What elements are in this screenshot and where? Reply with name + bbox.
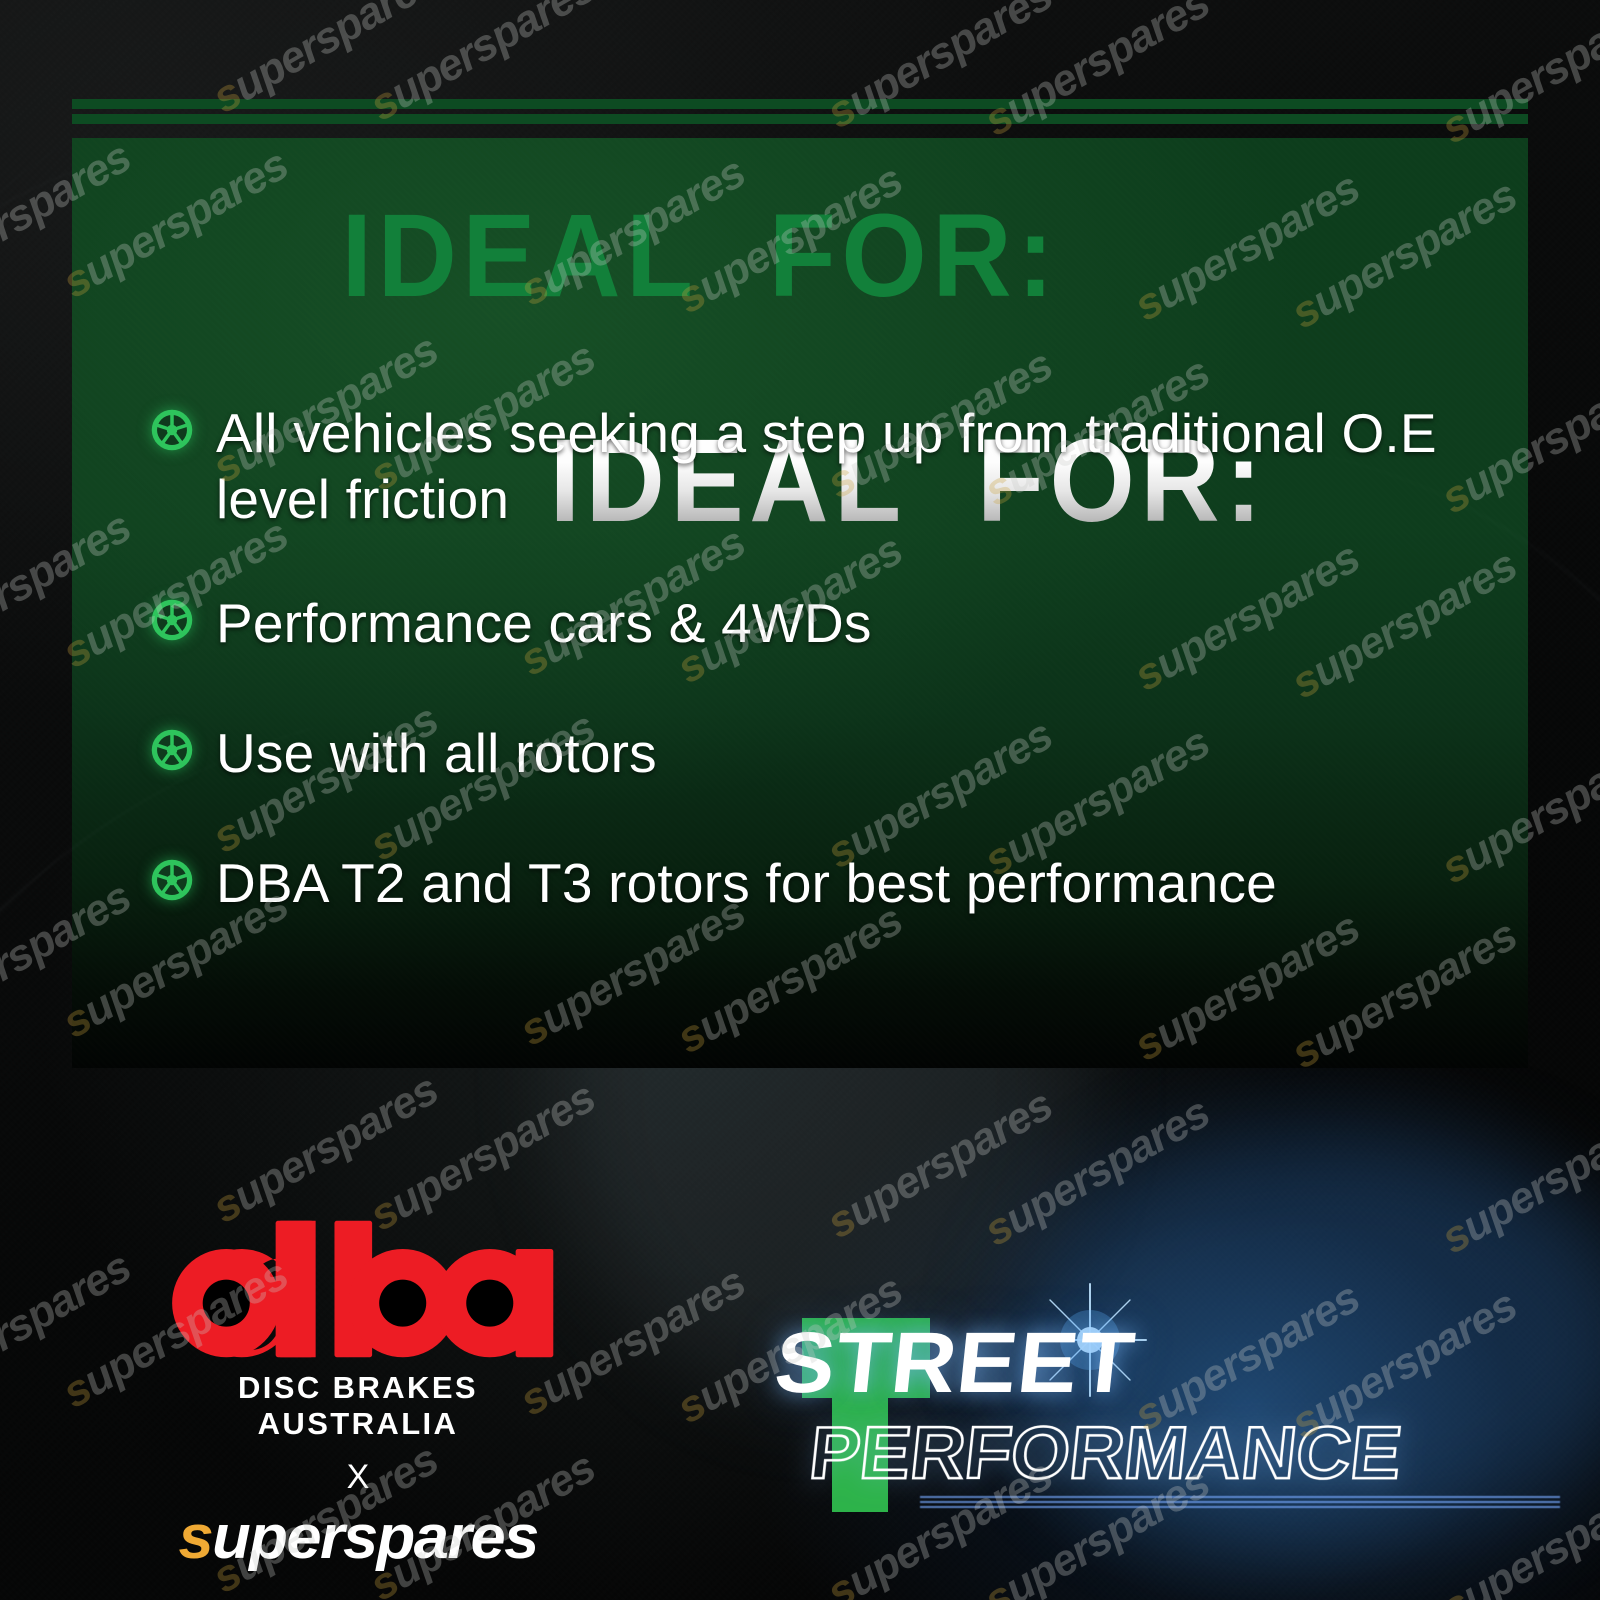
wheel-icon — [150, 858, 194, 902]
superspares-logo: superspares — [178, 1507, 537, 1569]
list-item: Use with all rotors — [150, 720, 1540, 786]
wheel-icon — [150, 598, 194, 642]
street-word: STREET — [771, 1320, 1139, 1406]
list-item: All vehicles seeking a step up from trad… — [150, 400, 1540, 532]
list-item: DBA T2 and T3 rotors for best performanc… — [150, 850, 1540, 916]
performance-word: PERFORMANCE — [806, 1416, 1405, 1490]
wheel-icon — [150, 728, 194, 772]
accent-stripe-top — [72, 99, 1528, 109]
feature-list: All vehicles seeking a step up from trad… — [150, 400, 1540, 916]
list-item-label: Use with all rotors — [216, 720, 657, 786]
list-item-label: DBA T2 and T3 rotors for best performanc… — [216, 850, 1277, 916]
brand-separator: X — [148, 1458, 568, 1497]
wheel-icon — [150, 408, 194, 452]
superspares-initial: s — [178, 1503, 212, 1572]
list-item: Performance cars & 4WDs — [150, 590, 1540, 656]
superspares-wordmark: uperspares — [212, 1503, 538, 1572]
performance-word-row: PERFORMANCE — [814, 1416, 1394, 1490]
dba-logo — [148, 1218, 568, 1368]
list-item-label: Performance cars & 4WDs — [216, 590, 872, 656]
promo-graphic: IDEAL FOR: IDEAL FOR: — [0, 0, 1600, 1600]
page-title-shadow: IDEAL FOR: — [341, 197, 1059, 315]
brand-lockup-left: DISC BRAKES AUSTRALIA X superspares — [148, 1218, 568, 1569]
street-performance-logo: STREET PERFORMANCE — [780, 1300, 1570, 1530]
street-word-row: STREET — [780, 1320, 1125, 1406]
dba-tagline: DISC BRAKES AUSTRALIA — [148, 1370, 568, 1442]
accent-stripe-second — [72, 114, 1528, 124]
logo-underline-streaks — [920, 1496, 1560, 1510]
list-item-label: All vehicles seeking a step up from trad… — [216, 400, 1540, 532]
